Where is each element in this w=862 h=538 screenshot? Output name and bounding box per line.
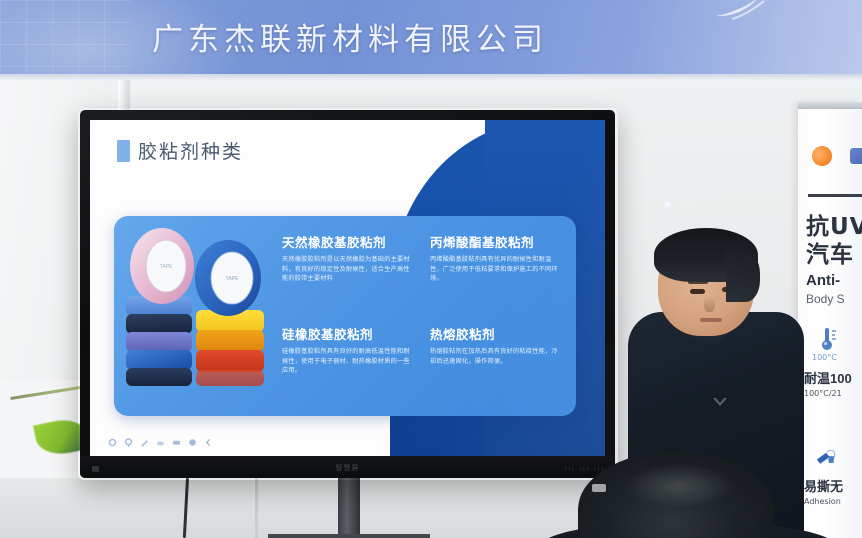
block-body: 热熔胶粘剂在加热后具有良好的粘接性能，冷却后迅速固化，操作简便。 <box>430 347 564 366</box>
presentation-slide[interactable]: 胶粘剂种类 <box>90 120 605 456</box>
rollup-product-banner: 抗UV 汽车 Anti- Body S 100°C 耐温100 100°C/21… <box>798 102 862 538</box>
block-heading: 硅橡胶基胶粘剂 <box>282 324 416 343</box>
power-led-icon <box>92 466 99 472</box>
feature-title-en: Adhesion <box>804 497 862 506</box>
display-bottom-bezel: 智慧屏 III III III <box>80 456 615 478</box>
block-body: 天然橡胶胶粘剂是以天然橡胶为基础的主要材料，有良好的稳定性及耐候性，适合生产高性… <box>282 255 416 284</box>
rollup-top-rail <box>798 102 862 109</box>
presenter-hair-side <box>726 250 760 302</box>
thermometer-caption: 100°C <box>812 353 862 362</box>
company-banner: 广东杰联新材料有限公司 <box>0 0 862 74</box>
block-heading: 丙烯酸酯基胶粘剂 <box>430 232 564 251</box>
more-icon[interactable] <box>188 438 197 447</box>
presenter-eye-left <box>690 289 705 294</box>
adhesive-block-natural-rubber: 天然橡胶基胶粘剂 天然橡胶胶粘剂是以天然橡胶为基础的主要材料，有良好的稳定性及耐… <box>282 232 416 314</box>
peel-tape-icon <box>816 444 838 470</box>
shape-icon[interactable] <box>172 438 181 447</box>
title-marker-icon <box>117 140 130 162</box>
adhesive-block-acrylate: 丙烯酸酯基胶粘剂 丙烯酸酯基胶粘剂具有优异的耐候性和耐温性，广泛使用于低粘要求和… <box>430 232 564 314</box>
adhesive-block-hot-melt: 热熔胶粘剂 热熔胶粘剂在加热后具有良好的粘接性能，冷却后迅速固化，操作简便。 <box>430 324 564 406</box>
slide-content-card: TAPE TAPE 天然橡胶基胶粘剂 天然橡胶胶粘剂是以天然橡胶为基础的主要材料 <box>114 216 576 416</box>
room-scene: 广东杰联新材料有限公司 胶粘剂种类 <box>0 0 862 538</box>
eraser-icon[interactable] <box>156 438 165 447</box>
thermometer-icon <box>816 326 838 352</box>
orange-circle-logo-icon <box>812 146 832 166</box>
company-name: 广东杰联新材料有限公司 <box>0 14 700 59</box>
interactive-display[interactable]: 胶粘剂种类 <box>80 110 615 478</box>
adhesive-type-grid: 天然橡胶基胶粘剂 天然橡胶胶粘剂是以天然橡胶为基础的主要材料，有良好的稳定性及耐… <box>282 232 564 406</box>
rollup-heading-line2: 汽车 <box>806 242 862 269</box>
shirt-logo-icon <box>712 396 728 408</box>
rollup-feature-temperature: 100°C 耐温100 100°C/21 <box>804 326 862 398</box>
slide-title: 胶粘剂种类 <box>138 137 243 164</box>
hair-clip-icon <box>592 484 606 492</box>
svg-text:TAPE: TAPE <box>226 276 239 282</box>
swoosh-icon <box>714 0 770 20</box>
feature-title-en: 100°C/21 <box>804 389 862 398</box>
slide-annotation-toolbar[interactable] <box>108 438 213 447</box>
audience-person <box>578 452 774 538</box>
block-heading: 天然橡胶基胶粘剂 <box>282 232 416 251</box>
presenter-mouth <box>700 318 722 322</box>
adhesive-block-silicone-rubber: 硅橡胶基胶粘剂 硅橡胶基胶粘剂具有良好的耐高低温性能和耐候性，使用于电子器材、耐… <box>282 324 416 406</box>
presenter-nose <box>704 296 715 312</box>
audience-head <box>578 452 774 538</box>
tv-stand-foot <box>268 534 430 538</box>
adhesive-tape-rolls-illustration: TAPE TAPE <box>124 224 276 406</box>
block-body: 硅橡胶基胶粘剂具有良好的耐高低温性能和耐候性，使用于电子器材、耐热橡胶材质的一些… <box>282 347 416 376</box>
brand-mark-icon <box>850 148 862 164</box>
block-body: 丙烯酸酯基胶粘剂具有优异的耐候性和耐温性，广泛使用于低粘要求和保护施工的不同环境… <box>430 255 564 284</box>
audience-hair-highlight <box>624 464 734 508</box>
display-brand-logo: 智慧屏 <box>336 463 360 473</box>
rollup-feature-peel: 易撕无 Adhesion <box>804 444 862 506</box>
feature-title-cn: 耐温100 <box>804 368 862 387</box>
pen-icon[interactable] <box>140 438 149 447</box>
feature-title-cn: 易撕无 <box>804 476 862 495</box>
rollup-subheading-en: Body S <box>806 292 862 306</box>
light-spot-reflection <box>662 199 673 210</box>
pointer-icon[interactable] <box>108 438 117 447</box>
select-icon[interactable] <box>124 438 133 447</box>
slide-title-group: 胶粘剂种类 <box>117 137 243 164</box>
rollup-heading-line1: 抗UV <box>806 214 862 241</box>
block-heading: 热熔胶粘剂 <box>430 324 564 343</box>
collapse-icon[interactable] <box>204 438 213 447</box>
rollup-divider <box>808 194 862 197</box>
rollup-heading-en: Anti- <box>806 272 862 289</box>
tv-stand-column <box>338 478 360 538</box>
svg-text:TAPE: TAPE <box>160 264 173 270</box>
lower-wall-seam <box>255 478 258 538</box>
ceiling-light-reflection <box>640 198 726 201</box>
